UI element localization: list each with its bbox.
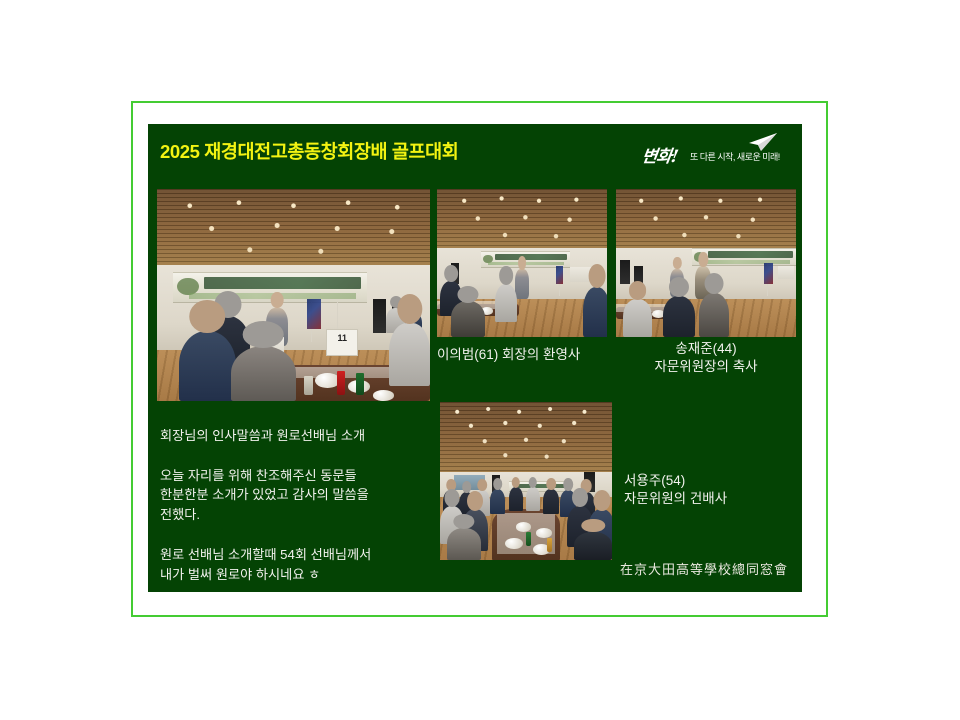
paper-plane-icon [748,132,778,152]
photo-banquet-toast [440,402,612,560]
caption-president-speech: 이의범(61) 회장의 환영사 [437,346,609,364]
caption-advisor-congratulation: 송재준(44) 자문위원장의 축사 [616,340,796,376]
brand-logo: 변화! 또 다른 시작, 새로운 미래! [642,132,792,174]
photo-advisor-congratulation [616,189,796,337]
caption-advisor-toast: 서용주(54) 자문위원의 건배사 [624,472,802,508]
body-text: 회장님의 인사말씀과 원로선배님 소개 오늘 자리를 위해 찬조해주신 동문들 … [160,426,456,584]
footer-organization: 在京大田高等學校總同窓會 [620,559,788,578]
photo-president-speech [437,189,607,337]
slide-content-panel: 2025 재경대전고총동창회장배 골프대회 변화! 또 다른 시작, 새로운 미… [148,124,802,592]
photo-main-welcome: 11 [157,189,430,401]
table-number-card: 11 [326,329,358,356]
page-title: 2025 재경대전고총동창회장배 골프대회 [160,138,458,164]
brand-script-text: 변화! [640,142,679,167]
